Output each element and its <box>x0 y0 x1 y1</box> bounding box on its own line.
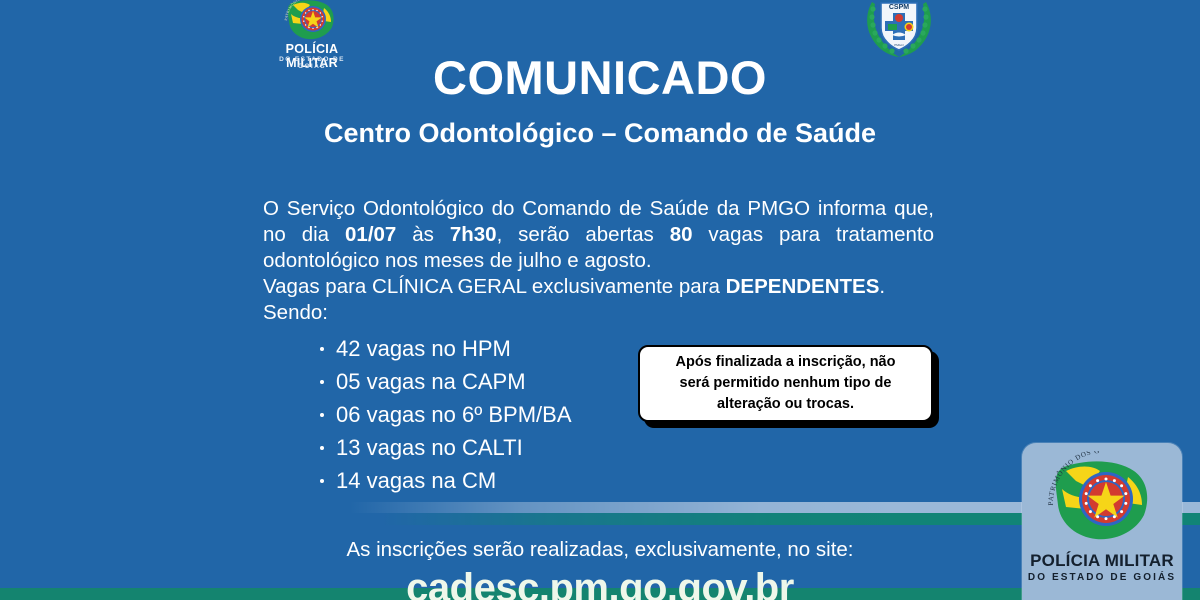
body-total-count: 80 <box>670 223 693 246</box>
footer-note: As inscrições serão realizadas, exclusiv… <box>0 538 1200 562</box>
body-time: 7h30 <box>450 223 497 246</box>
svg-text:PMGO: PMGO <box>894 43 904 47</box>
pm-emblem-icon-large: PATRIMÔNIO DOS GOIANOS <box>1040 451 1164 551</box>
body-p2-b: . <box>879 275 885 298</box>
list-item: 13 vagas no CALTI <box>318 431 572 464</box>
announcement-body: O Serviço Odontológico do Comando de Saú… <box>263 196 934 326</box>
callout-box: Após finalizada a inscrição, não será pe… <box>638 345 933 422</box>
callout-line-2: será permitido nenhum tipo de <box>680 375 892 391</box>
list-item: 06 vagas no 6º BPM/BA <box>318 398 572 431</box>
paragraph-dependentes: Vagas para CLÍNICA GERAL exclusivamente … <box>263 274 934 300</box>
decorative-stripe-teal <box>0 513 1200 525</box>
registration-url[interactable]: cadesc.pm.go.gov.br <box>0 566 1200 600</box>
pm-emblem-icon: PATRIMÔNIO DOS GOIANOS <box>264 0 360 44</box>
logo-card-title: POLÍCIA MILITAR <box>1022 551 1182 571</box>
body-p2-a: Vagas para CLÍNICA GERAL exclusivamente … <box>263 275 726 298</box>
page-title: COMUNICADO <box>0 50 1200 105</box>
list-item: 42 vagas no HPM <box>318 332 572 365</box>
callout-line-3: alteração ou trocas. <box>717 396 854 412</box>
paragraph-main: O Serviço Odontológico do Comando de Saú… <box>263 196 934 274</box>
logo-card-subtitle: DO ESTADO DE GOIÁS <box>1022 572 1182 583</box>
body-p1-c: , serão abertas <box>497 223 670 246</box>
callout-line-1: Após finalizada a inscrição, não <box>676 354 896 370</box>
body-date: 01/07 <box>345 223 396 246</box>
warning-callout: Após finalizada a inscrição, não será pe… <box>638 345 933 422</box>
list-item: 05 vagas na CAPM <box>318 365 572 398</box>
list-item: 14 vagas na CM <box>318 464 572 497</box>
body-p1-b: às <box>396 223 450 246</box>
comunicado-poster: PATRIMÔNIO DOS GOIANOS POLÍCIA MILITAR D… <box>0 0 1200 600</box>
paragraph-sendo: Sendo: <box>263 300 934 326</box>
callout-text: Após finalizada a inscrição, não será pe… <box>666 352 906 415</box>
page-subtitle: Centro Odontológico – Comando de Saúde <box>0 118 1200 149</box>
cspm-acronym: CSPM <box>889 4 909 11</box>
decorative-stripe-light <box>0 502 1200 513</box>
body-dependentes: DEPENDENTES <box>726 275 880 298</box>
vagas-list: 42 vagas no HPM 05 vagas na CAPM 06 vaga… <box>318 332 572 497</box>
policia-militar-logo-card: PATRIMÔNIO DOS GOIANOS POLÍCIA MILITAR D… <box>1022 443 1182 600</box>
